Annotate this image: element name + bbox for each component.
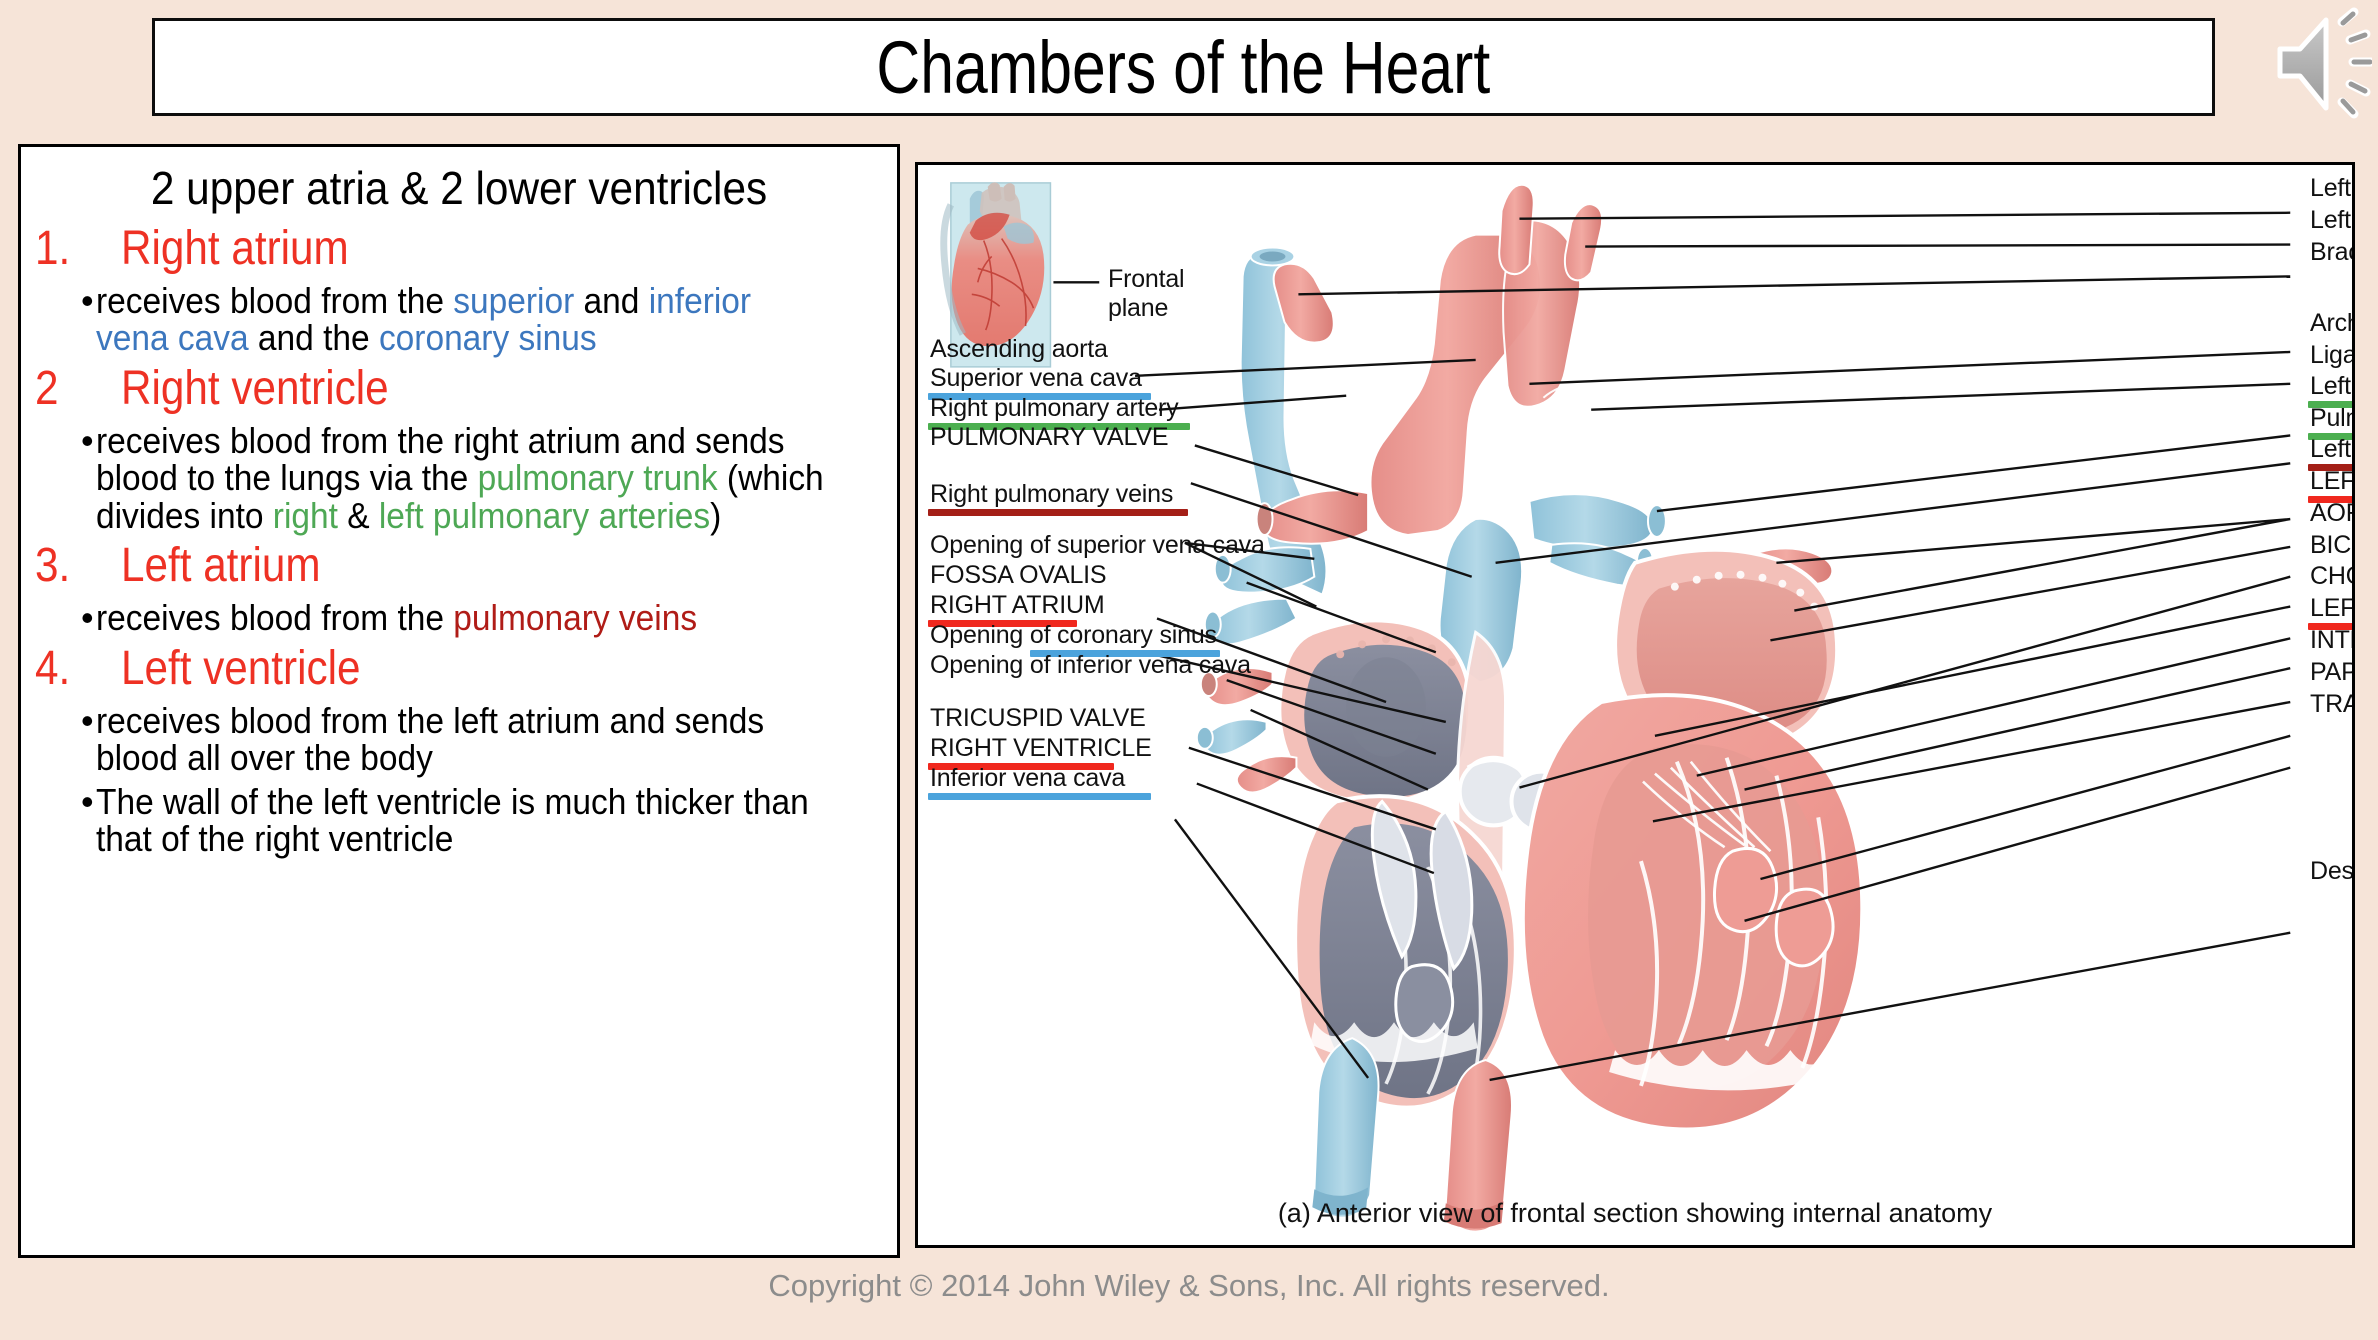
chamber-list: 1.Right atrium•receives blood from the s… (35, 221, 883, 857)
chamber-title: Left atrium (121, 538, 321, 593)
diagram-label: AORTIC VALVE (2310, 499, 2355, 528)
diagram-label: Opening of superior vena cava (930, 531, 1265, 560)
chamber-bullet: •receives blood from the superior and in… (81, 282, 883, 357)
bullet-text: receives blood from the right atrium and… (96, 422, 828, 534)
chamber-bullet: •receives blood from the right atrium an… (81, 422, 883, 534)
bullet-dot: • (81, 599, 94, 636)
diagram-label: INTERVENTRICULAR SEPTUM (2310, 626, 2355, 655)
diagram-label: RIGHT ATRIUM (930, 591, 1104, 620)
diagram-label: Left subclavian artery (2310, 206, 2355, 235)
diagram-label: TRICUSPID VALVE (930, 704, 1146, 733)
diagram-label: Ascending aorta (930, 335, 1108, 364)
diagram-label: Opening of inferior vena cava (930, 651, 1251, 680)
label-underline (928, 509, 1188, 516)
bullet-dot: • (81, 282, 94, 357)
chamber-heading: 2Right ventricle (35, 361, 883, 416)
diagram-label: Inferior vena cava (930, 764, 1125, 793)
chamber-heading: 4.Left ventricle (35, 641, 883, 696)
diagram-label: Ligamentum arteriosum (2310, 341, 2355, 370)
chamber-heading: 1.Right atrium (35, 221, 883, 276)
diagram-label: RIGHT VENTRICLE (930, 734, 1152, 763)
diagram-label: PAPILLARY MUSCLE (2310, 658, 2355, 687)
diagram-label: FOSSA OVALIS (930, 561, 1106, 590)
bullet-dot: • (81, 702, 94, 777)
slide-title-box: Chambers of the Heart (152, 18, 2215, 116)
chamber-title: Right ventricle (121, 361, 389, 416)
diagram-label: Descending aorta (2310, 857, 2355, 886)
chamber-number: 2 (35, 361, 111, 416)
chamber-bullet: • receives blood from the pulmonary vein… (81, 599, 883, 636)
chamber-title: Right atrium (121, 221, 349, 276)
speaker-icon[interactable] (2242, 4, 2372, 124)
diagram-label: Pulmonary trunk (2310, 404, 2355, 433)
chamber-heading: 3.Left atrium (35, 538, 883, 593)
diagram-label: PULMONARY VALVE (930, 423, 1168, 452)
heart-frontal-section (1197, 185, 1862, 1232)
label-underline (928, 793, 1151, 800)
bullet-text: The wall of the left ventricle is much t… (96, 783, 828, 858)
diagram-label: BICUSPID (MITRAL) VALVE (2310, 531, 2355, 560)
diagram-label: Left pulmonary veins (2310, 435, 2355, 464)
inset-label-frontal: Frontal plane (1108, 265, 1184, 323)
diagram-label: Right pulmonary artery (930, 394, 1178, 423)
diagram-label: LEFT ATRIUM (2310, 467, 2355, 496)
diagram-label: Brachiocephalic trunk (2310, 238, 2355, 267)
page-title: Chambers of the Heart (877, 25, 1491, 110)
lead-statement: 2 upper atria & 2 lower ventricles (69, 161, 849, 215)
bullet-text: receives blood from the left atrium and … (96, 702, 828, 777)
chamber-number: 1. (35, 221, 111, 276)
diagram-label: Superior vena cava (930, 364, 1142, 393)
diagram-label: Left common carotid artery (2310, 174, 2355, 203)
bullet-dot: • (81, 783, 94, 858)
chamber-bullet: •receives blood from the left atrium and… (81, 702, 883, 777)
chamber-title: Left ventricle (121, 641, 360, 696)
copyright-notice: Copyright © 2014 John Wiley & Sons, Inc.… (0, 1268, 2378, 1304)
diagram-label: LEFT VENTRICLE (2310, 594, 2355, 623)
chamber-bullet: •The wall of the left ventricle is much … (81, 783, 883, 858)
chamber-number: 4. (35, 641, 111, 696)
bullet-text: receives blood from the superior and inf… (96, 282, 828, 357)
diagram-caption: (a) Anterior view of frontal section sho… (918, 1198, 2352, 1229)
diagram-label: Left pulmonary artery (2310, 372, 2355, 401)
bullet-dot: • (81, 422, 94, 534)
diagram-label: TRABECULAE CARNEAE (2310, 690, 2355, 719)
bullet-text: receives blood from the pulmonary veins (96, 599, 697, 636)
content-panel: 2 upper atria & 2 lower ventricles 1.Rig… (18, 144, 900, 1258)
diagram-label: Opening of coronary sinus (930, 621, 1217, 650)
chamber-number: 3. (35, 538, 111, 593)
diagram-label: Arch of aorta (2310, 309, 2355, 338)
diagram-label: Right pulmonary veins (930, 480, 1173, 509)
heart-diagram-panel: Frontal plane Ascending aortaSuperior ve… (915, 162, 2355, 1248)
diagram-label: CHORDAE TENDINEAE (2310, 562, 2355, 591)
